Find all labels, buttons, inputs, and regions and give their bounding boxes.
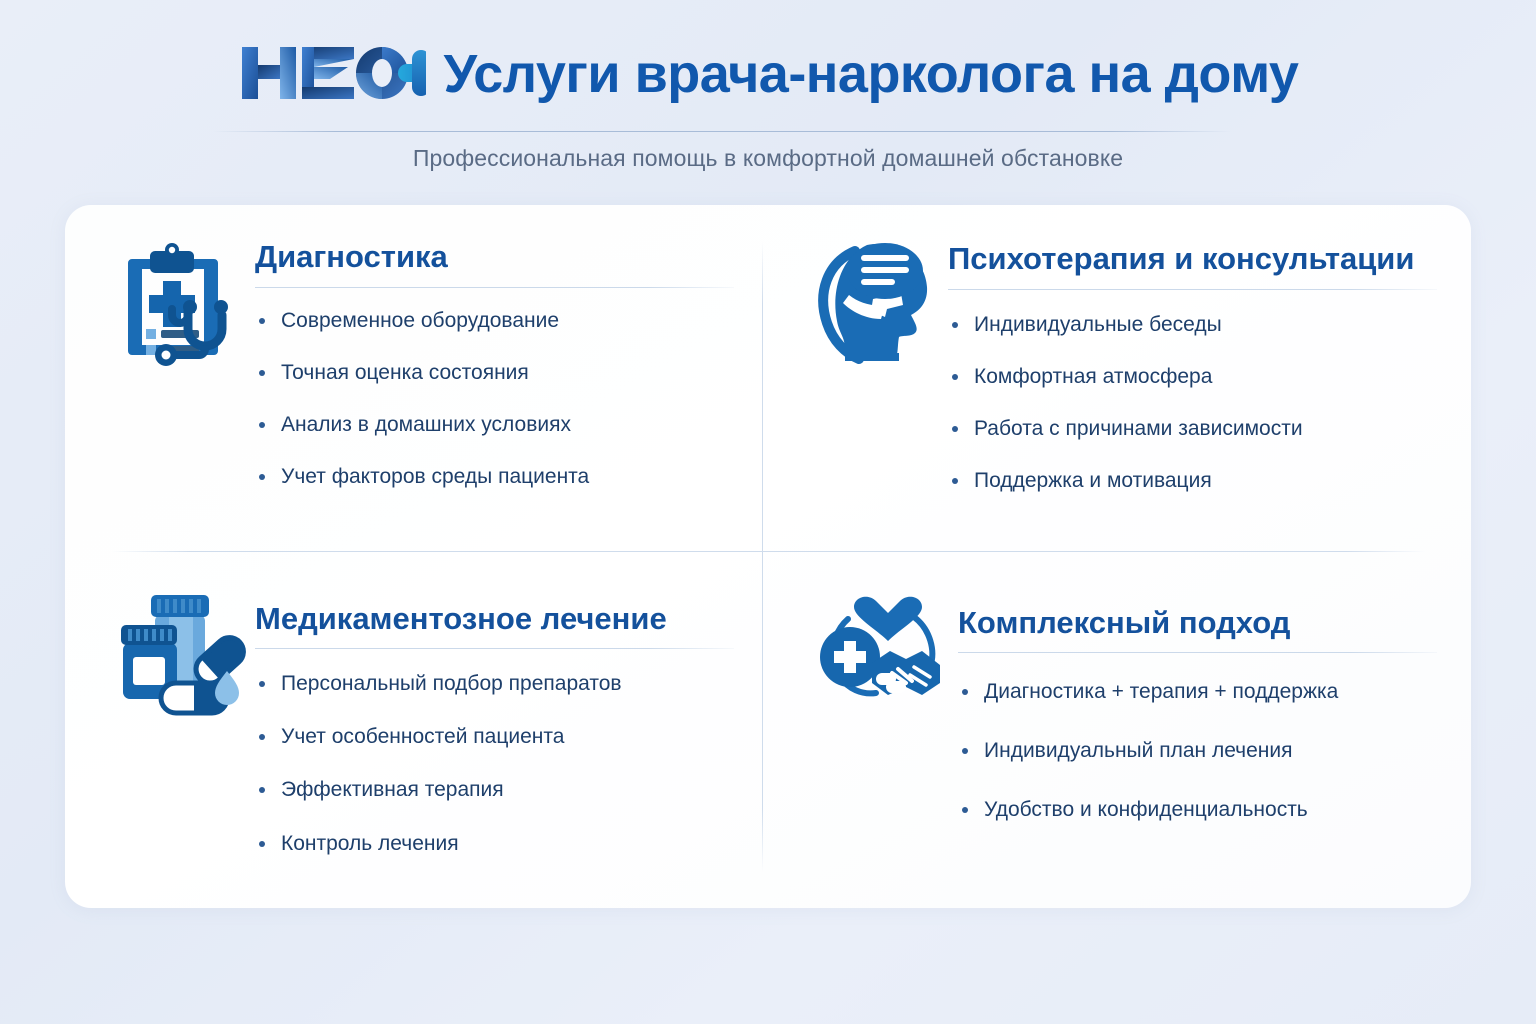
header-title-row: Услуги врача-нарколога на дому xyxy=(0,38,1536,110)
card-bullet-list: Индивидуальные беседы Комфортная атмосфе… xyxy=(948,312,1437,494)
card-bullet-list: Диагностика + терапия + поддержка Индиви… xyxy=(958,679,1437,823)
services-panel: Диагностика Современное оборудование Точ… xyxy=(65,205,1471,908)
head-speech-bubble-icon xyxy=(812,237,942,377)
heading-underline xyxy=(948,289,1437,290)
list-item: Учет факторов среды пациента xyxy=(255,464,734,489)
list-item: Персональный подбор препаратов xyxy=(255,671,734,696)
page-subtitle: Профессиональная помощь в комфортной дом… xyxy=(0,145,1536,172)
list-item: Современное оборудование xyxy=(255,308,734,333)
page-header: Услуги врача-нарколога на дому Профессио… xyxy=(0,0,1536,200)
card-body: Комплексный подход Диагностика + терапия… xyxy=(958,585,1437,857)
list-item: Учет особенностей пациента xyxy=(255,724,734,749)
card-heading: Медикаментозное лечение xyxy=(255,603,734,636)
clipboard-stethoscope-icon xyxy=(109,237,249,377)
card-body: Психотерапия и консультации Индивидуальн… xyxy=(948,233,1437,493)
heading-underline xyxy=(255,648,734,649)
card-bullet-list: Персональный подбор препаратов Учет особ… xyxy=(255,671,734,856)
list-item: Диагностика + терапия + поддержка xyxy=(958,679,1437,704)
card-heading: Комплексный подход xyxy=(958,607,1437,640)
card-body: Диагностика Современное оборудование Точ… xyxy=(255,233,734,489)
card-bullet-list: Современное оборудование Точная оценка с… xyxy=(255,308,734,490)
page-title: Услуги врача-нарколога на дому xyxy=(444,47,1299,101)
service-card-medikamentoznoe-lechenie[interactable]: Медикаментозное лечение Персональный под… xyxy=(65,557,768,909)
list-item: Точная оценка состояния xyxy=(255,360,734,385)
pill-bottles-capsules-icon xyxy=(109,589,249,729)
card-heading: Психотерапия и консультации xyxy=(948,243,1437,276)
services-grid: Диагностика Современное оборудование Точ… xyxy=(65,205,1471,908)
list-item: Индивидуальные беседы xyxy=(948,312,1437,337)
title-separator xyxy=(213,131,1231,132)
card-body: Медикаментозное лечение Персональный под… xyxy=(255,585,734,884)
list-item: Контроль лечения xyxy=(255,831,734,856)
card-heading: Диагностика xyxy=(255,241,734,274)
list-item: Комфортная атмосфера xyxy=(948,364,1437,389)
heart-handshake-cross-icon xyxy=(812,589,952,729)
service-card-psihoterapiya[interactable]: Психотерапия и консультации Индивидуальн… xyxy=(768,205,1471,557)
heading-underline xyxy=(255,287,734,288)
service-card-kompleksnyj-podhod[interactable]: Комплексный подход Диагностика + терапия… xyxy=(768,557,1471,909)
heading-underline xyxy=(958,652,1437,653)
list-item: Поддержка и мотивация xyxy=(948,468,1437,493)
list-item: Анализ в домашних условиях xyxy=(255,412,734,437)
list-item: Эффективная терапия xyxy=(255,777,734,802)
list-item: Удобство и конфиденциальность xyxy=(958,797,1437,822)
list-item: Индивидуальный план лечения xyxy=(958,738,1437,763)
list-item: Работа с причинами зависимости xyxy=(948,416,1437,441)
service-card-diagnostika[interactable]: Диагностика Современное оборудование Точ… xyxy=(65,205,768,557)
neo-plus-logo xyxy=(238,38,426,110)
